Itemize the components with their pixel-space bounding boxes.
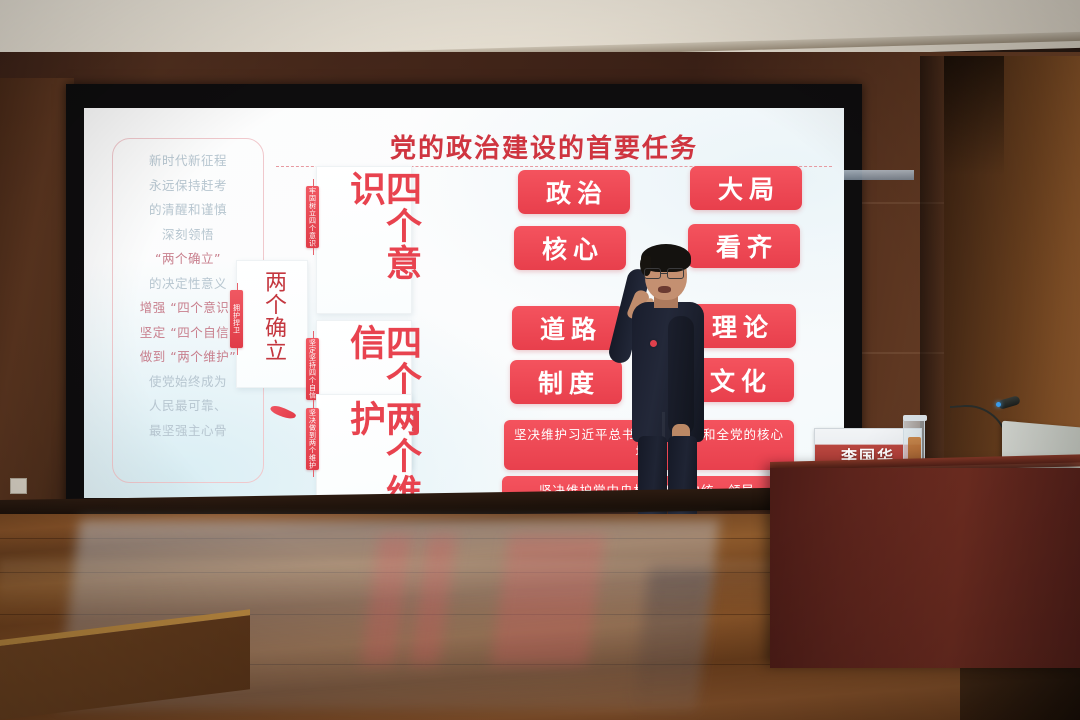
projection-screen-surface: 党的政治建设的首要任务 新时代新征程 永远保持赶考 的清醒和谨慎 深刻领悟 “两…	[84, 108, 844, 498]
pillar-card-title: 四个意识	[346, 170, 418, 314]
keyword-pill: 道路	[512, 306, 624, 350]
eyeglasses-icon	[644, 268, 689, 279]
lapel-pin	[650, 340, 657, 347]
left-panel-line: 最坚强主心骨	[119, 419, 257, 444]
left-panel-line: 的清醒和谨慎	[119, 198, 257, 223]
pillar-card-title: 两个维护	[346, 400, 418, 498]
microphone-led-indicator	[996, 402, 1001, 407]
pillar-card-tag: 坚定坚持四个自信	[306, 338, 319, 400]
lecture-hall-scene: 党的政治建设的首要任务 新时代新征程 永远保持赶考 的清醒和谨慎 深刻领悟 “两…	[0, 0, 1080, 720]
pillar-card-tag: 牢固树立四个意识	[306, 186, 319, 248]
left-panel-line: 深刻领悟	[119, 223, 257, 248]
left-wall-panel	[0, 78, 74, 518]
left-panel-line: 人民最可靠、	[119, 394, 257, 419]
lowered-arm	[668, 316, 694, 436]
anchor-card-title: 两个确立	[262, 270, 284, 378]
wall-outlet-plate	[10, 478, 27, 494]
brush-stroke-decoration	[269, 403, 296, 422]
keyword-pill: 政治	[518, 170, 630, 214]
left-panel-line: 永远保持赶考	[119, 174, 257, 199]
mouth	[658, 286, 671, 293]
anchor-card-tag: 拥护捍卫	[230, 290, 243, 348]
podium-body	[770, 468, 1080, 668]
pillar-card-tag: 坚决做到两个维护	[306, 408, 319, 470]
tumbler-lid	[903, 415, 927, 421]
keyword-pill: 大局	[690, 166, 802, 210]
left-panel-line: 新时代新征程	[119, 149, 257, 174]
keyword-pill: 制度	[510, 360, 622, 404]
slide-title: 党的政治建设的首要任务	[264, 128, 824, 165]
right-wall-upper-shadow	[944, 56, 1004, 176]
